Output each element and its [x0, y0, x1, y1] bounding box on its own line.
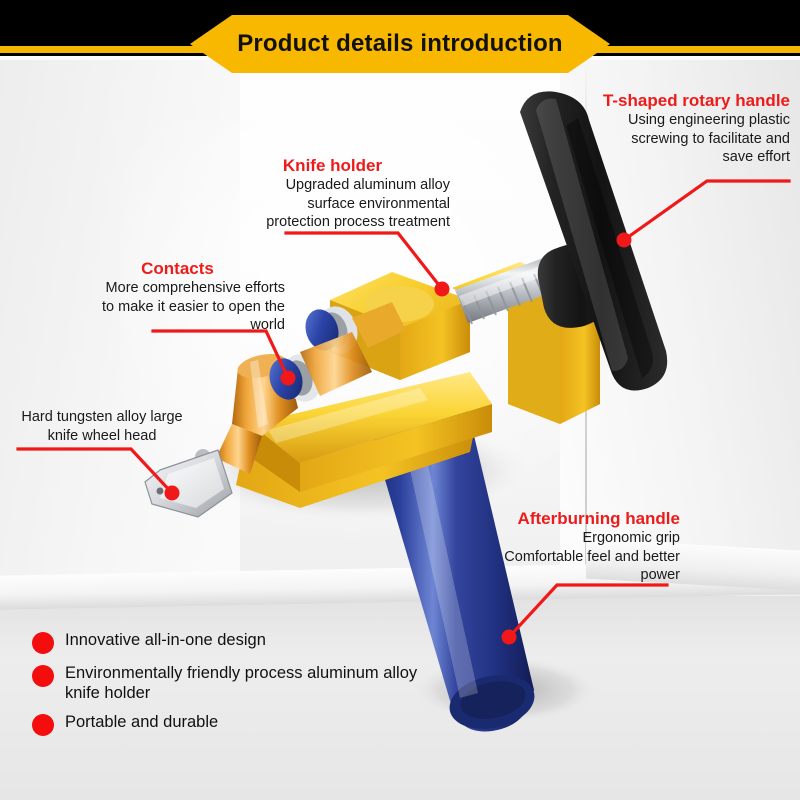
- bullet-text: Innovative all-in-one design: [65, 630, 266, 650]
- callout-title-t-shaped-rotary-handle: T-shaped rotary handle: [600, 90, 790, 111]
- callout-body-line: Upgraded aluminum alloy: [215, 176, 450, 195]
- callout-title-contacts: Contacts: [70, 258, 285, 279]
- callout-body-line: Ergonomic grip: [480, 529, 680, 548]
- callout-body-line: protection process treatment: [215, 213, 450, 232]
- page-title: Product details introduction: [237, 30, 563, 58]
- header-banner: Product details introduction: [190, 15, 610, 73]
- callout-knife-wheel-head: Hard tungsten alloy large knife wheel he…: [2, 408, 202, 445]
- callout-body-line: More comprehensive efforts: [70, 279, 285, 298]
- callout-body-line: knife wheel head: [2, 427, 202, 446]
- callout-body-line: Hard tungsten alloy large: [2, 408, 202, 427]
- callout-body-line: Using engineering plastic: [600, 111, 790, 130]
- list-item: Environmentally friendly process aluminu…: [32, 663, 452, 703]
- infographic-page: Product details introduction T-shaped ro…: [0, 0, 800, 800]
- bullet-text: Environmentally friendly process aluminu…: [65, 663, 452, 703]
- callout-body-line: screwing to facilitate and: [600, 130, 790, 149]
- callout-afterburning-handle: Afterburning handle Ergonomic grip Comfo…: [480, 508, 680, 585]
- bullet-dot-icon: [32, 665, 54, 687]
- callout-body-line: power: [480, 566, 680, 585]
- callout-body-line: surface environmental: [215, 195, 450, 214]
- bullet-dot-icon: [32, 632, 54, 654]
- callout-t-shaped-rotary-handle: T-shaped rotary handle Using engineering…: [600, 90, 790, 167]
- callout-title-knife-holder: Knife holder: [215, 155, 450, 176]
- callout-body-line: to make it easier to open the: [70, 298, 285, 317]
- callout-body-line: world: [70, 316, 285, 335]
- callout-contacts: Contacts More comprehensive efforts to m…: [70, 258, 285, 335]
- list-item: Portable and durable: [32, 712, 452, 736]
- bullet-dot-icon: [32, 714, 54, 736]
- list-item: Innovative all-in-one design: [32, 630, 452, 654]
- bullet-text: Portable and durable: [65, 712, 218, 732]
- callout-knife-holder: Knife holder Upgraded aluminum alloy sur…: [215, 155, 450, 232]
- callout-body-line: Comfortable feel and better: [480, 548, 680, 567]
- callout-body-line: save effort: [600, 148, 790, 167]
- feature-bullet-list: Innovative all-in-one design Environment…: [32, 630, 452, 745]
- knife-wheel-head: [145, 449, 232, 517]
- callout-title-afterburning-handle: Afterburning handle: [480, 508, 680, 529]
